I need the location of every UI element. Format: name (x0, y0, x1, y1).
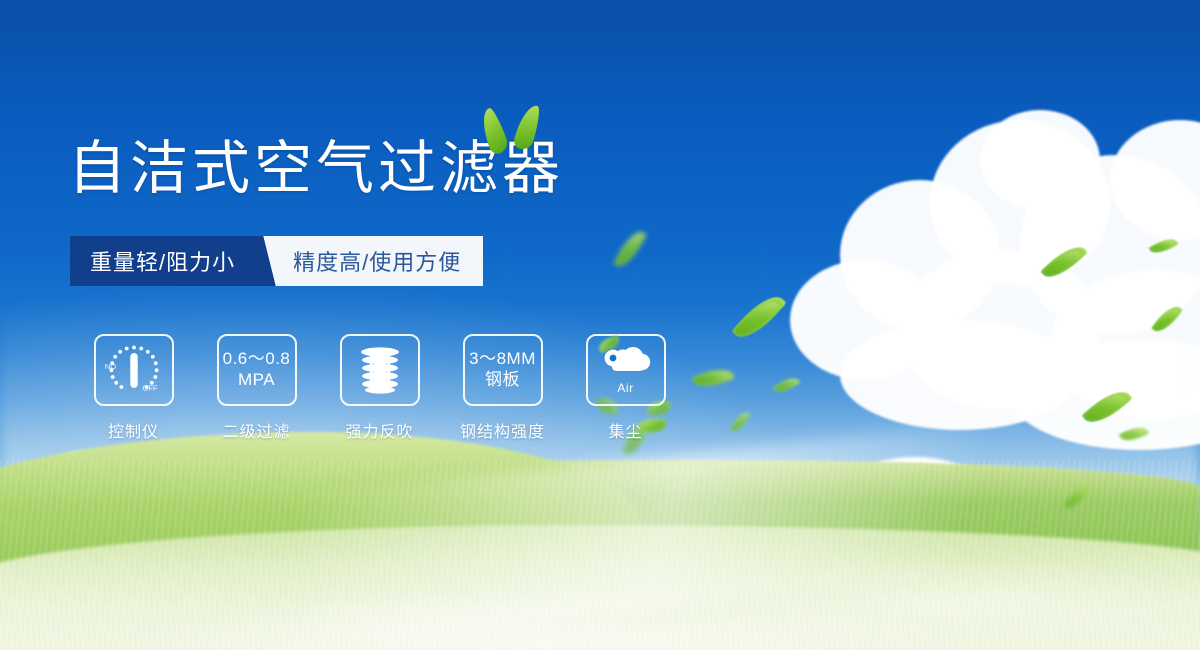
feature-box-line-1: 0.6～0.8 (223, 349, 291, 370)
feature-box: 3～8MM 钢板 (463, 334, 543, 406)
filter-cartridge-icon (354, 344, 406, 396)
feature-item-secondary-filter[interactable]: 0.6～0.8 MPA 二级过滤 (195, 334, 318, 442)
feature-list: NO OFF 控制仪 0.6～0.8 MPA 二级过滤 (72, 334, 687, 442)
feature-item-control-gauge[interactable]: NO OFF 控制仪 (72, 334, 195, 442)
feature-label: 集尘 (608, 418, 642, 442)
sprout-leaf-left (477, 106, 511, 156)
gauge-left-label: NO (105, 362, 116, 371)
feature-label: 控制仪 (108, 418, 159, 442)
cloud-air-icon (599, 346, 653, 380)
feature-box: Air (586, 334, 666, 406)
gauge-dial-icon: NO OFF (105, 342, 163, 398)
feature-item-dust-collection[interactable]: Air 集尘 (564, 334, 687, 442)
title-block: 自洁式空气过滤器 (68, 138, 564, 201)
feature-box (340, 334, 420, 406)
feature-label: 强力反吹 (345, 418, 413, 442)
cloud-air-text: Air (617, 382, 633, 394)
subtitle-right: 精度高/使用方便 (285, 236, 483, 286)
sprout-leaf-right (512, 102, 543, 151)
feature-item-back-blow[interactable]: 强力反吹 (318, 334, 441, 442)
feature-label: 二级过滤 (222, 418, 290, 442)
feature-item-steel-strength[interactable]: 3～8MM 钢板 钢结构强度 (441, 334, 564, 442)
feature-box-line-2: 钢板 (485, 370, 520, 391)
feature-box-line-1: 3～8MM (469, 349, 536, 370)
grass-field (0, 460, 1200, 650)
feature-box: NO OFF (94, 334, 174, 406)
feature-label: 钢结构强度 (460, 418, 545, 442)
feature-box-line-2: MPA (238, 370, 275, 391)
feature-box: 0.6～0.8 MPA (217, 334, 297, 406)
product-banner: 自洁式空气过滤器 重量轻/阻力小 精度高/使用方便 (0, 0, 1200, 650)
subtitle-bar: 重量轻/阻力小 精度高/使用方便 (70, 236, 483, 286)
gauge-right-label: OFF (142, 384, 157, 393)
sprout-leaves-icon (476, 100, 556, 160)
subtitle-divider (257, 236, 285, 286)
subtitle-left: 重量轻/阻力小 (70, 236, 257, 286)
